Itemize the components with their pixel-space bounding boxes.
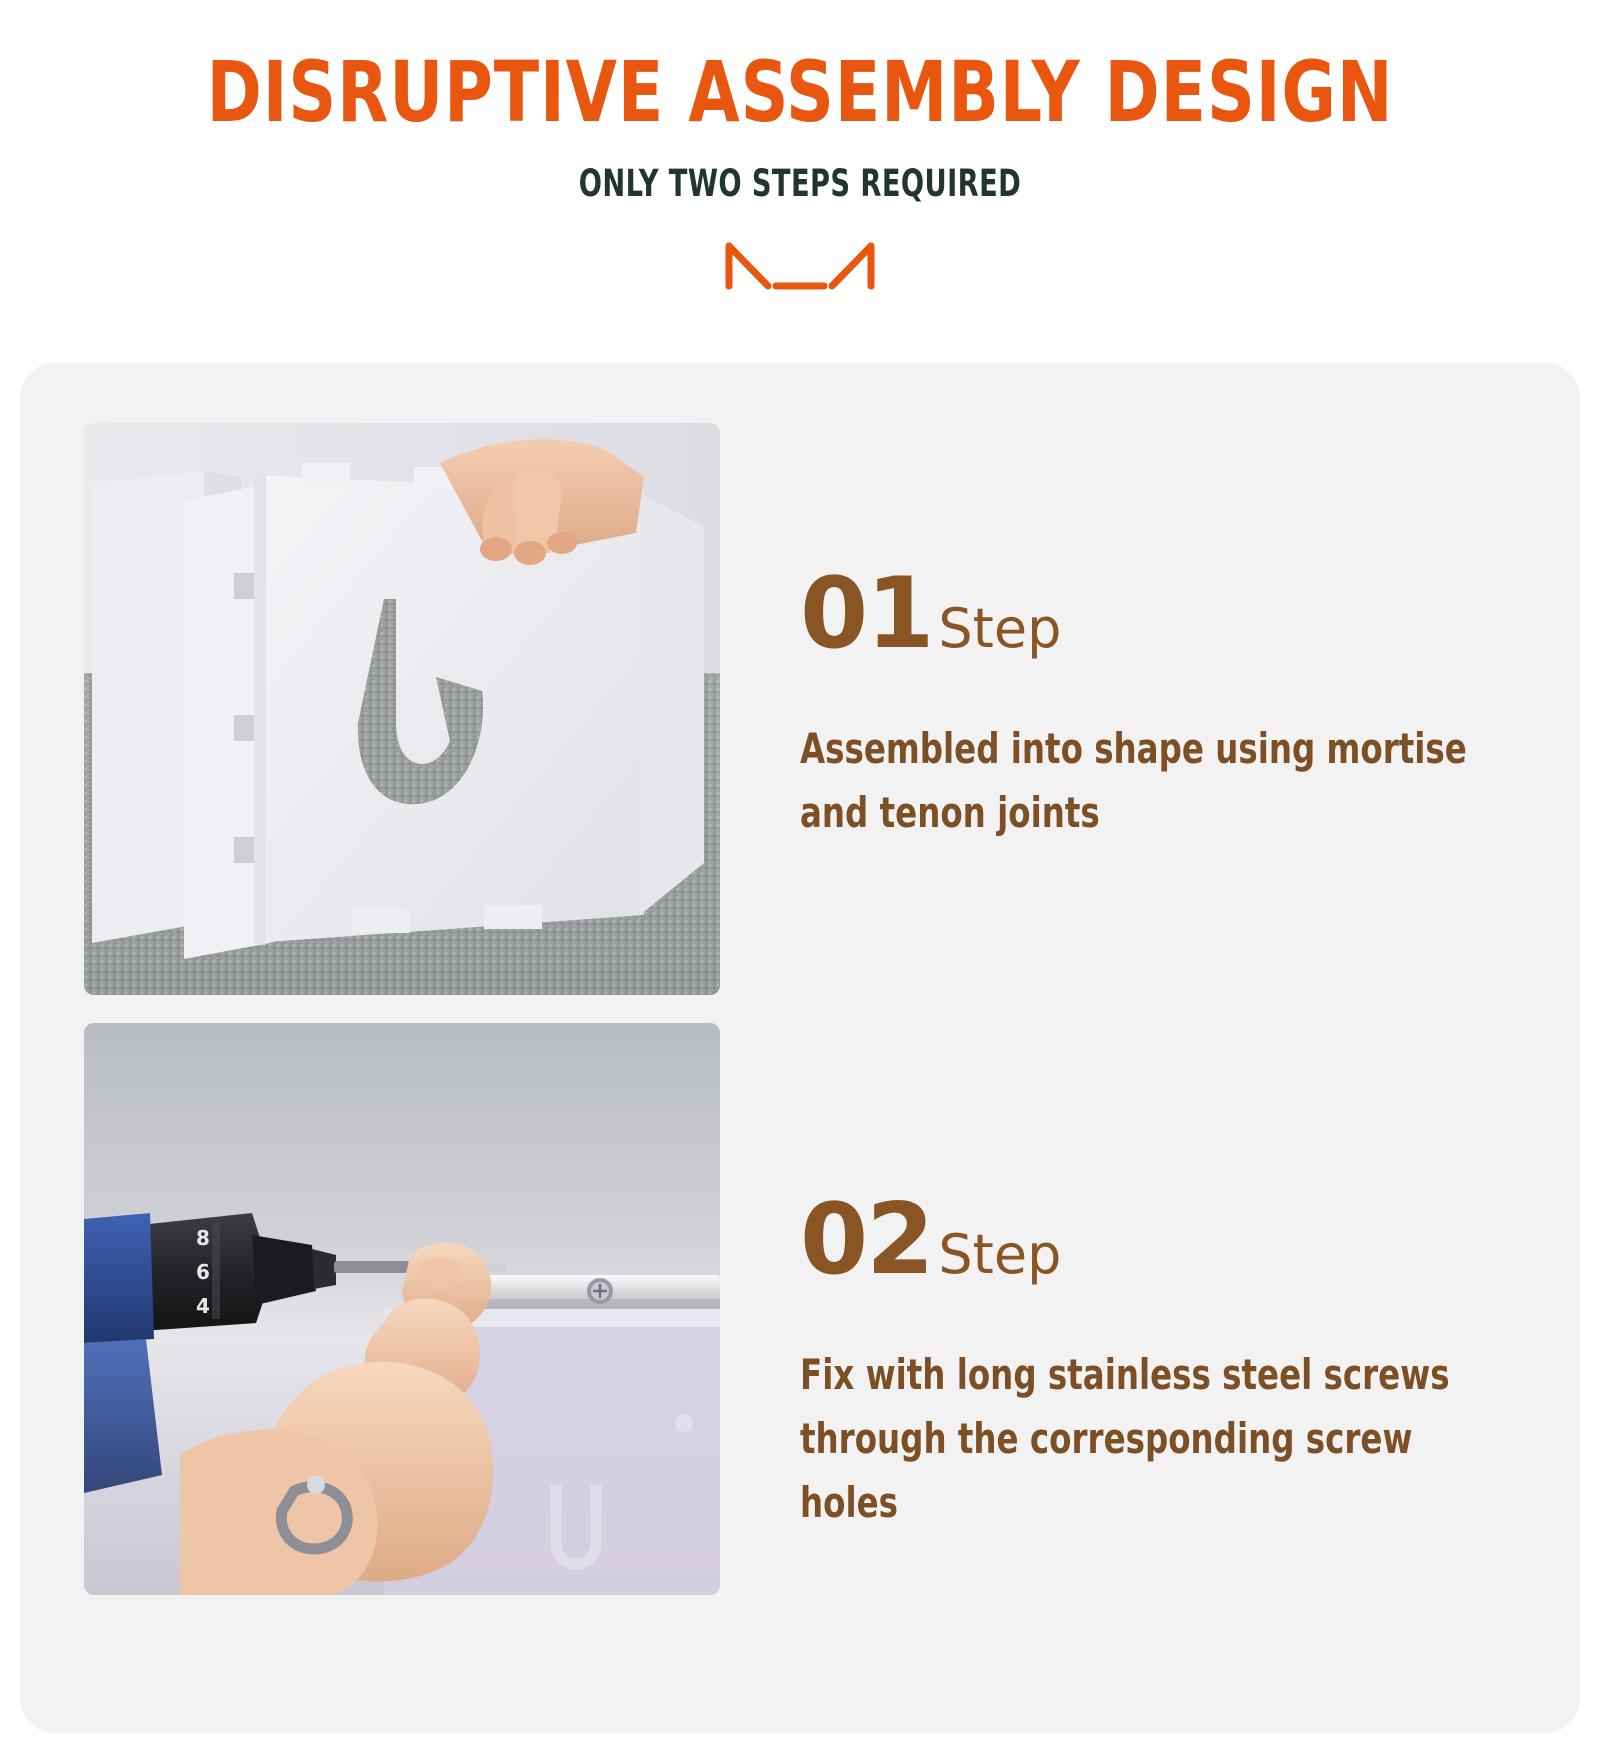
step-1-photo [84,423,720,995]
svg-text:8: 8 [196,1226,210,1250]
step-2-heading: 02 Step [800,1191,1480,1289]
step-1-number: 01 [800,565,932,663]
bracket-line-bracket-divider-icon [720,240,880,292]
steps-card: 01 Step Assembled into shape using morti… [20,363,1580,1733]
step-1-heading: 01 Step [800,565,1480,663]
step-2-text: 02 Step Fix with long stainless steel sc… [720,1023,1480,1535]
step-2-description: Fix with long stainless steel screws thr… [800,1343,1478,1535]
infographic-page: DISRUPTIVE ASSEMBLY DESIGN ONLY TWO STEP… [0,0,1600,1754]
hands-assembling-white-panel-photo [84,423,720,995]
page-subtitle: ONLY TWO STEPS REQUIRED [144,162,1456,206]
divider [0,240,1600,292]
svg-text:4: 4 [196,1294,210,1318]
step-1-word: Step [938,602,1061,656]
step-1-text: 01 Step Assembled into shape using morti… [720,423,1480,845]
step-row: 01 Step Assembled into shape using morti… [84,423,1480,995]
page-title: DISRUPTIVE ASSEMBLY DESIGN [96,44,1504,140]
step-1-description: Assembled into shape using mortise and t… [800,717,1478,845]
step-2-number: 02 [800,1191,932,1289]
step-row: 8 6 4 [84,1023,1480,1595]
step-2-photo: 8 6 4 [84,1023,720,1595]
header: DISRUPTIVE ASSEMBLY DESIGN ONLY TWO STEP… [0,0,1600,292]
drill-driving-screw-into-panel-photo: 8 6 4 [84,1023,720,1595]
svg-text:6: 6 [196,1260,210,1284]
step-2-word: Step [938,1228,1061,1282]
